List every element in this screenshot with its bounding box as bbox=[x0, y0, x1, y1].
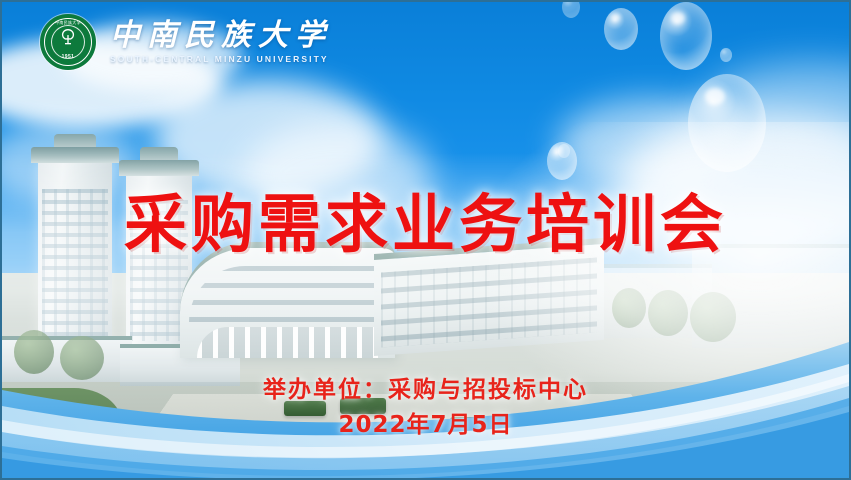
organizer-line: 举办单位：采购与招投标中心 bbox=[2, 370, 849, 404]
poster-canvas: 中南民族大学 1951 中南民族大学 SOUTH-CENTRAL MINZU U… bbox=[0, 0, 851, 480]
soap-bubble bbox=[604, 8, 638, 50]
university-name-block: 中南民族大学 SOUTH-CENTRAL MINZU UNIVERSITY bbox=[110, 21, 332, 64]
page-title: 采购需求业务培训会 bbox=[2, 174, 849, 265]
soap-bubble bbox=[558, 144, 570, 158]
university-name-en: SOUTH-CENTRAL MINZU UNIVERSITY bbox=[110, 55, 332, 64]
soap-bubble bbox=[660, 2, 712, 70]
tree-icon bbox=[58, 28, 78, 48]
seal-founding-year: 1951 bbox=[40, 54, 96, 60]
university-name-cn: 中南民族大学 bbox=[110, 21, 332, 51]
soap-bubble bbox=[720, 48, 732, 62]
university-branding: 中南民族大学 1951 中南民族大学 SOUTH-CENTRAL MINZU U… bbox=[40, 14, 332, 70]
event-date: 2022年7月5日 bbox=[2, 405, 849, 439]
university-seal-icon: 中南民族大学 1951 bbox=[40, 14, 96, 70]
soap-bubble bbox=[688, 74, 766, 172]
